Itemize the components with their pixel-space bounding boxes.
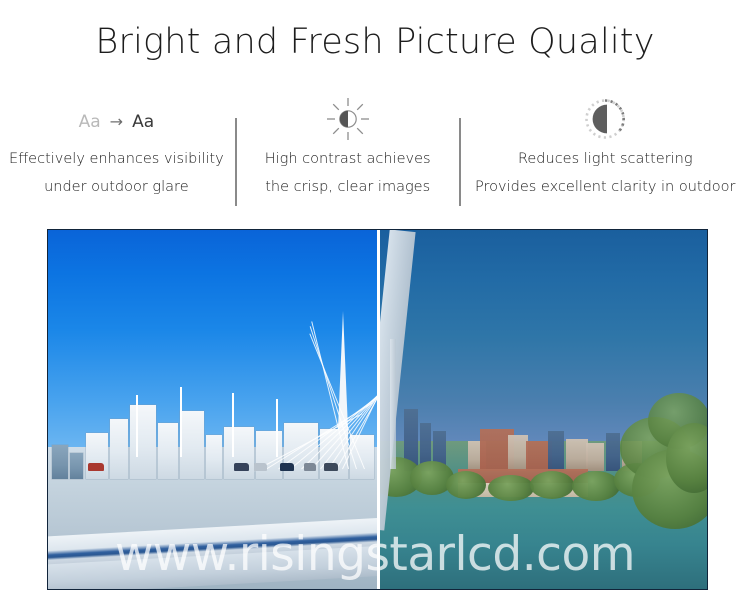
feature-row: Aa → Aa Effectively enhances visibility …: [0, 96, 750, 212]
feature-item-scattering: Reduces light scattering Provides excell…: [461, 96, 750, 212]
page-title: Bright and Fresh Picture Quality: [0, 22, 750, 62]
comparison-half-left: [48, 230, 377, 589]
feature-line-2: the crisp, clear images: [265, 173, 431, 201]
arrow-right-icon: →: [110, 112, 123, 131]
feature-line-1: High contrast achieves: [265, 145, 431, 173]
bridge-pylon: [338, 311, 348, 429]
feature-line-2: under outdoor glare: [9, 173, 224, 201]
feature-line-2: Provides excellent clarity in outdoor: [475, 173, 735, 201]
aa-contrast-icon: Aa → Aa: [79, 96, 155, 142]
aa-dim-text: Aa: [79, 112, 101, 132]
feature-text-visibility: Effectively enhances visibility under ou…: [9, 145, 224, 201]
feature-item-visibility: Aa → Aa Effectively enhances visibility …: [0, 96, 235, 212]
sun-half-brightness-icon: [325, 96, 371, 142]
feature-line-1: Reduces light scattering: [475, 145, 735, 173]
aa-bold-text: Aa: [132, 112, 154, 132]
comparison-image: [47, 229, 708, 590]
half-disc-scatter-icon: [582, 96, 628, 142]
feature-item-contrast: High contrast achieves the crisp, clear …: [237, 96, 459, 212]
feature-text-contrast: High contrast achieves the crisp, clear …: [265, 145, 431, 201]
feature-text-scattering: Reduces light scattering Provides excell…: [475, 145, 735, 201]
comparison-half-right: [380, 230, 707, 589]
feature-line-1: Effectively enhances visibility: [9, 145, 224, 173]
